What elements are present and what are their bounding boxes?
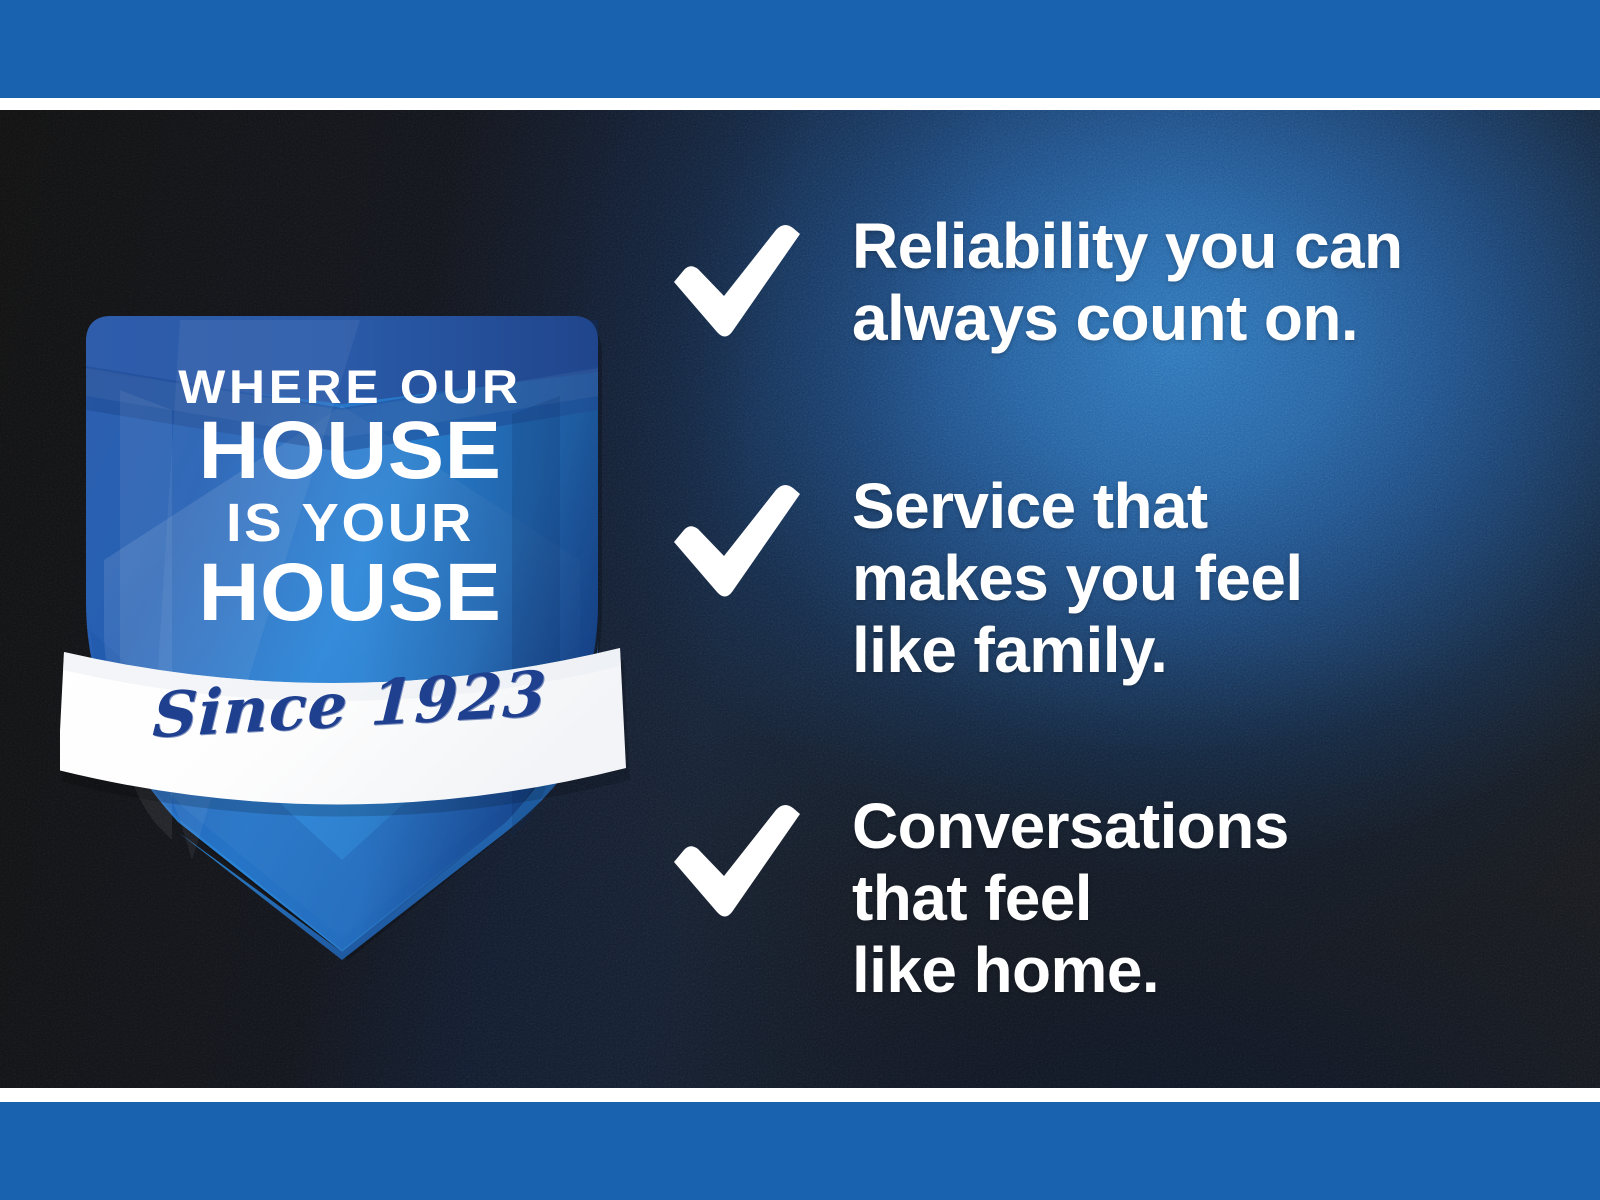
benefit-text-2: Service that makes you feel like family.	[852, 470, 1303, 686]
promo-poster: Where Our House is Your House Since 1923…	[0, 0, 1600, 1200]
checkmark-icon	[660, 210, 810, 346]
benefits-list: Reliability you can always count on. Ser…	[660, 110, 1560, 1088]
benefit-text-1: Reliability you can always count on.	[852, 210, 1403, 354]
benefit-text-3: Conversations that feel like home.	[852, 790, 1289, 1006]
checkmark-icon	[660, 470, 810, 606]
benefit-item-2: Service that makes you feel like family.	[660, 470, 1303, 686]
checkmark-icon	[660, 790, 810, 926]
benefit-item-3: Conversations that feel like home.	[660, 790, 1289, 1006]
bottom-brand-bar	[0, 1102, 1600, 1200]
benefit-item-1: Reliability you can always count on.	[660, 210, 1403, 354]
top-brand-bar	[0, 0, 1600, 98]
shield-emblem: Where Our House is Your House Since 1923	[60, 160, 640, 960]
